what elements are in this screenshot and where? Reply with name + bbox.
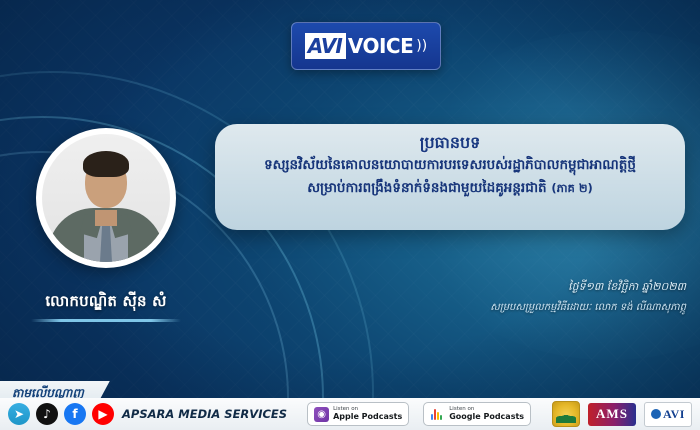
avi-wordmark: AVI: [305, 33, 346, 59]
episode-meta: ថ្ងៃទី១៣ ខែវិច្ឆិកា ឆ្នាំ២០២៣ សម្របសម្រួ…: [490, 280, 686, 315]
title-line-2-wrap: សម្រាប់ការពង្រឹងទំនាក់ទំនងជាមួយដៃគូអន្តរ…: [231, 179, 669, 199]
speaker-portrait: [42, 134, 170, 262]
avatar: [36, 128, 176, 268]
speaker-name: លោកបណ្ឌិត ស៊ីន សំ: [16, 292, 196, 314]
episode-host-credit: សម្របសម្រួលកម្មវិធីដោយៈ លោក ទង់ លីណាសុភា…: [490, 300, 686, 315]
social-links: ➤ ♪ f ▶: [8, 403, 114, 425]
apple-podcasts-badge[interactable]: ◉ Listen on Apple Podcasts: [307, 402, 409, 426]
portrait-hair: [83, 151, 129, 177]
speaker-underline: [31, 319, 181, 322]
footer-bar: ➤ ♪ f ▶ APSARA MEDIA SERVICES ◉ Listen o…: [0, 398, 700, 430]
sound-wave-icon: )): [416, 39, 427, 53]
globe-icon: [651, 409, 661, 419]
partner-logos: AMS AVI: [552, 401, 692, 427]
avi-logo: AVI: [644, 402, 692, 427]
page-title: ប្រធានបទ: [231, 133, 669, 153]
portrait-neck: [95, 210, 117, 226]
apple-badge-line2: Apple Podcasts: [333, 413, 402, 421]
speaker-name-block: លោកបណ្ឌិត ស៊ីន សំ: [16, 292, 196, 322]
tiktok-icon[interactable]: ♪: [36, 403, 58, 425]
google-podcasts-badge[interactable]: Listen on Google Podcasts: [423, 402, 531, 426]
apple-podcasts-icon: ◉: [314, 407, 329, 422]
company-name: APSARA MEDIA SERVICES: [122, 407, 287, 421]
video-thumbnail-slide: AVI VOICE )) លោកបណ្ឌិត ស៊ីន សំ ប្រធានបទ …: [0, 0, 700, 430]
avi-voice-logo: AVI VOICE )): [291, 22, 441, 70]
facebook-icon[interactable]: f: [64, 403, 86, 425]
title-part-label: (ភាគ ២): [551, 181, 592, 195]
title-line-1: ទស្សនវិស័យនៃគោលនយោបាយការបរទេសរបស់រដ្ឋាភិ…: [231, 156, 669, 176]
title-card: ប្រធានបទ ទស្សនវិស័យនៃគោលនយោបាយការបរទេសរប…: [215, 124, 685, 230]
title-line-2: សម្រាប់ការពង្រឹងទំនាក់ទំនងជាមួយដៃគូអន្តរ…: [307, 180, 546, 196]
avi-logo-label: AVI: [663, 407, 685, 422]
youtube-icon[interactable]: ▶: [92, 403, 114, 425]
google-podcasts-icon: [430, 407, 445, 422]
ams-logo: AMS: [588, 403, 636, 426]
episode-date: ថ្ងៃទី១៣ ខែវិច្ឆិកា ឆ្នាំ២០២៣: [490, 280, 686, 296]
angkor-tree-logo: [552, 401, 580, 427]
voice-wordmark: VOICE: [348, 36, 413, 56]
google-badge-line2: Google Podcasts: [449, 413, 524, 421]
telegram-icon[interactable]: ➤: [8, 403, 30, 425]
